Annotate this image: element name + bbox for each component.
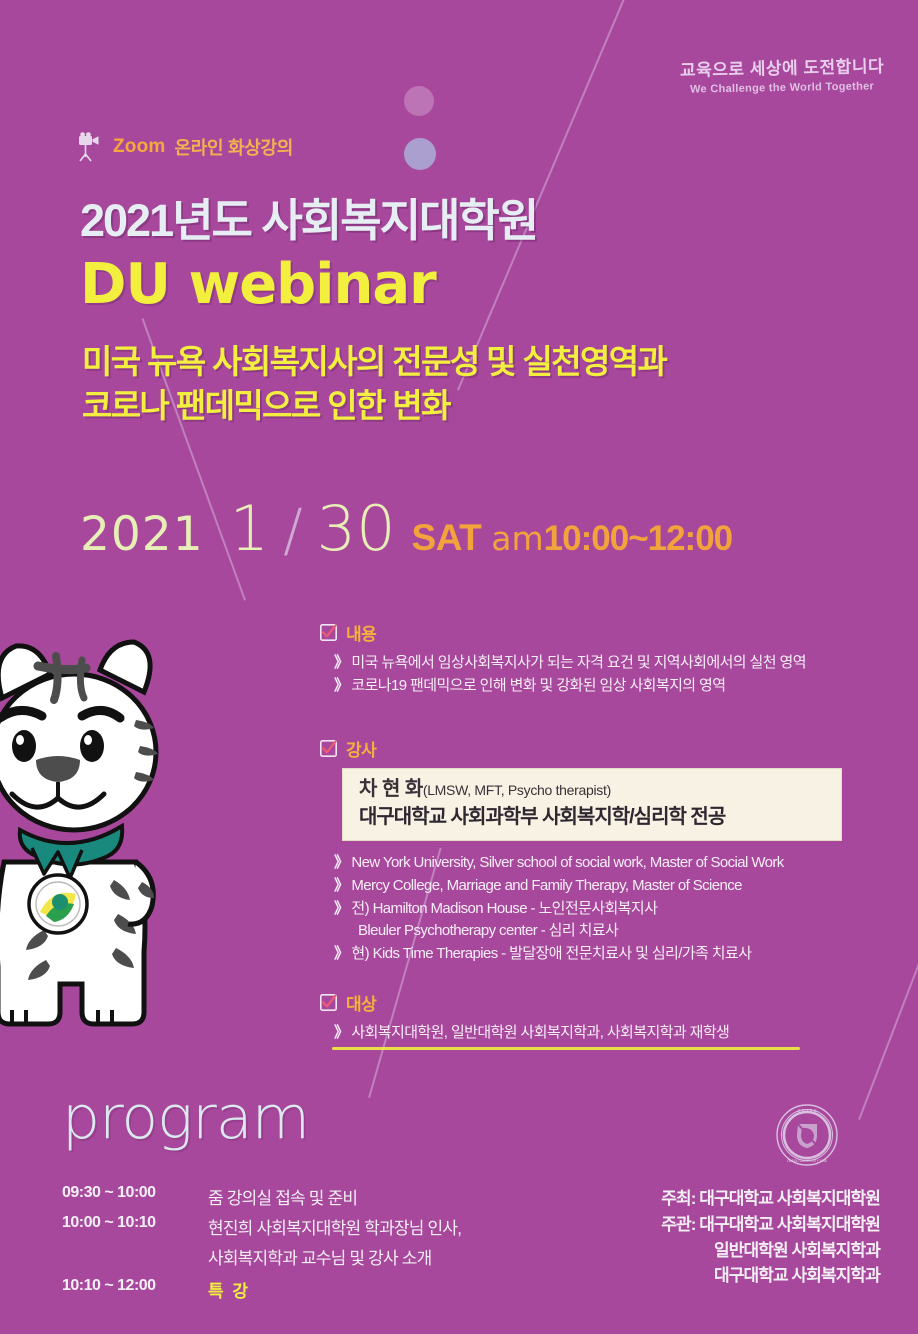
bullet-text: 미국 뉴욕에서 임상사회복지사가 되는 자격 요건 및 지역사회에서의 실천 영… <box>351 652 806 675</box>
date-time-range: 10:00~12:00 <box>544 519 732 559</box>
section-header: 내용 <box>320 620 806 645</box>
schedule-row: 사회복지학과 교수님 및 강사 소개 <box>62 1244 461 1269</box>
slogan-english: We Challenge the World Together <box>680 80 884 97</box>
bullet-marker: 》 <box>334 1022 348 1045</box>
bullet-marker: 》 <box>334 943 348 966</box>
slogan-korean: 교육으로 세상에 도전합니다 <box>680 56 885 82</box>
checkbox-checked-icon <box>320 624 337 641</box>
platform-description: 온라인 화상강의 <box>175 134 294 160</box>
list-item: 》 현) Kids Time Therapies - 발달장애 전문치료사 및 … <box>334 943 842 966</box>
section-header: 강사 <box>320 736 842 761</box>
speaker-name-row: 차 현 화 (LMSW, MFT, Psycho therapist) <box>359 777 827 802</box>
program-schedule: 09:30 ~ 10:00 줌 강의실 접속 및 준비 10:00 ~ 10:1… <box>62 1184 461 1307</box>
bullet-text: Mercy College, Marriage and Family Thera… <box>351 875 742 898</box>
list-item: 》 전) Hamilton Madison House - 노인전문사회복지사 <box>334 898 842 921</box>
bullet-marker: 》 <box>334 675 348 698</box>
bullet-text: 현) Kids Time Therapies - 발달장애 전문치료사 및 심리… <box>351 943 751 966</box>
list-item: 》 미국 뉴욕에서 임상사회복지사가 되는 자격 요건 및 지역사회에서의 실천… <box>334 652 806 675</box>
list-item: Bleuler Psychotherapy center - 심리 치료사 <box>334 920 842 943</box>
list-item: 》 New York University, Silver school of … <box>334 852 842 875</box>
schedule-desc: 줌 강의실 접속 및 준비 <box>208 1184 357 1209</box>
date-meridiem: am <box>491 519 543 558</box>
date-month: 1 <box>230 492 269 565</box>
zoom-label: Zoom <box>113 136 166 158</box>
svg-text:DAEGU UNIVERSITY 1956: DAEGU UNIVERSITY 1956 <box>787 1159 826 1163</box>
daegu-university-emblem: 대 구 대 학 교 DAEGU UNIVERSITY 1956 <box>776 1104 838 1166</box>
speaker-department: 대구대학교 사회과학부 사회복지학/심리학 전공 <box>359 804 827 830</box>
bullet-marker: 》 <box>334 875 348 898</box>
host-organizations: 주최: 대구대학교 사회복지대학원 주관: 대구대학교 사회복지대학원 일반대학… <box>661 1186 880 1289</box>
section-title: 강사 <box>346 736 376 761</box>
program-title: program <box>62 1083 309 1153</box>
headline-brand: DU webinar <box>80 252 436 317</box>
host-line: 주최: 대구대학교 사회복지대학원 <box>661 1186 880 1212</box>
date-separator: / <box>283 496 303 564</box>
university-slogan: 교육으로 세상에 도전합니다 We Challenge the World To… <box>680 58 884 96</box>
speaker-card: 차 현 화 (LMSW, MFT, Psycho therapist) 대구대학… <box>342 768 842 841</box>
svg-text:대 구 대 학 교: 대 구 대 학 교 <box>797 1108 816 1113</box>
audience-underline <box>332 1047 800 1050</box>
speaker-bullet-list: 》 New York University, Silver school of … <box>320 852 842 966</box>
list-item: 》 사회복지대학원, 일반대학원 사회복지학과, 사회복지학과 재학생 <box>334 1022 729 1045</box>
date-day: 30 <box>317 492 396 565</box>
section-title: 대상 <box>346 990 376 1015</box>
diagonal-line-right <box>858 933 918 1120</box>
section-speaker: 강사 차 현 화 (LMSW, MFT, Psycho therapist) 대… <box>320 736 842 966</box>
schedule-time: 10:00 ~ 10:10 <box>62 1214 208 1232</box>
section-title: 내용 <box>346 620 376 645</box>
bullet-text: 코로나19 팬데믹으로 인해 변화 및 강화된 임상 사회복지의 영역 <box>351 675 725 698</box>
checkbox-checked-icon <box>320 740 337 757</box>
schedule-desc: 특 강 <box>208 1277 250 1302</box>
bullet-text: Bleuler Psychotherapy center - 심리 치료사 <box>358 920 618 943</box>
section-bullet-list: 》 사회복지대학원, 일반대학원 사회복지학과, 사회복지학과 재학생 <box>320 1022 729 1045</box>
list-item: 》 코로나19 팬데믹으로 인해 변화 및 강화된 임상 사회복지의 영역 <box>334 675 806 698</box>
dot-faint-top <box>404 86 434 116</box>
white-tiger-mascot <box>0 612 196 1052</box>
host-line: 대구대학교 사회복지학과 <box>661 1263 880 1289</box>
speaker-credentials: (LMSW, MFT, Psycho therapist) <box>423 782 611 800</box>
platform-badge: Zoom 온라인 화상강의 <box>78 132 293 162</box>
poster-canvas: 교육으로 세상에 도전합니다 We Challenge the World To… <box>0 0 918 1334</box>
dot-strong-lower <box>404 138 436 170</box>
checkbox-checked-icon <box>320 994 337 1011</box>
schedule-time: 10:10 ~ 12:00 <box>62 1277 208 1295</box>
host-line: 주관: 대구대학교 사회복지대학원 <box>661 1212 880 1238</box>
headline-subtitle: 미국 뉴욕 사회복지사의 전문성 및 실천영역과 코로나 팬데믹으로 인한 변화 <box>82 340 666 427</box>
schedule-desc: 사회복지학과 교수님 및 강사 소개 <box>208 1244 431 1269</box>
section-bullet-list: 》 미국 뉴욕에서 임상사회복지사가 되는 자격 요건 및 지역사회에서의 실천… <box>320 652 806 698</box>
bullet-marker: 》 <box>334 898 348 921</box>
schedule-row: 09:30 ~ 10:00 줌 강의실 접속 및 준비 <box>62 1184 461 1209</box>
speaker-name: 차 현 화 <box>359 777 423 802</box>
date-year: 2021 <box>80 507 204 562</box>
video-camera-icon <box>78 132 104 162</box>
schedule-row: 10:00 ~ 10:10 현진희 사회복지대학원 학과장님 인사, <box>62 1214 461 1239</box>
schedule-desc: 현진희 사회복지대학원 학과장님 인사, <box>208 1214 461 1239</box>
bullet-text: 사회복지대학원, 일반대학원 사회복지학과, 사회복지학과 재학생 <box>351 1022 729 1045</box>
schedule-row: 10:10 ~ 12:00 특 강 <box>62 1277 461 1302</box>
subtitle-line-2: 코로나 팬데믹으로 인한 변화 <box>82 384 666 428</box>
bullet-marker: 》 <box>334 852 348 875</box>
section-content: 내용 》 미국 뉴욕에서 임상사회복지사가 되는 자격 요건 및 지역사회에서의… <box>320 620 806 698</box>
list-item: 》 Mercy College, Marriage and Family The… <box>334 875 842 898</box>
section-audience: 대상 》 사회복지대학원, 일반대학원 사회복지학과, 사회복지학과 재학생 <box>320 990 729 1045</box>
host-line: 일반대학원 사회복지학과 <box>661 1238 880 1264</box>
date-weekday: SAT <box>412 517 482 559</box>
event-date: 2021 1 / 30 SAT am 10:00~12:00 <box>80 492 732 565</box>
schedule-time: 09:30 ~ 10:00 <box>62 1184 208 1202</box>
bullet-text: 전) Hamilton Madison House - 노인전문사회복지사 <box>351 898 657 921</box>
subtitle-line-1: 미국 뉴욕 사회복지사의 전문성 및 실천영역과 <box>82 340 666 384</box>
bullet-text: New York University, Silver school of so… <box>351 852 783 875</box>
bullet-marker: 》 <box>334 652 348 675</box>
section-header: 대상 <box>320 990 729 1015</box>
headline-korean: 2021년도 사회복지대학원 <box>80 184 537 249</box>
